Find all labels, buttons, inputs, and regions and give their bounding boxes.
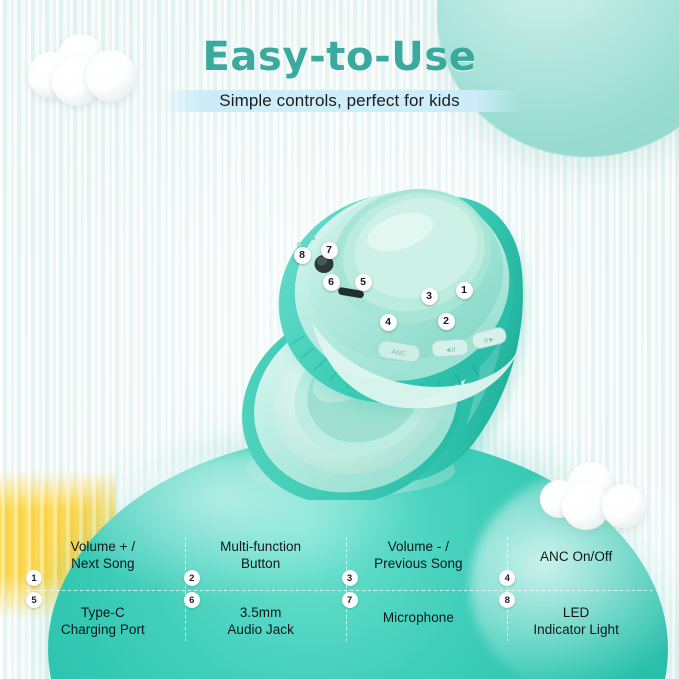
microphone-hole — [311, 236, 316, 240]
legend-label-line1: Microphone — [348, 610, 490, 627]
legend-label-line2: Audio Jack — [190, 622, 332, 639]
legend-label-line2: Indicator Light — [505, 622, 647, 639]
legend-label-line2: Previous Song — [348, 556, 490, 573]
legend-cell-5: 5 Type-C Charging Port — [24, 589, 182, 645]
legend-label: LED Indicator Light — [497, 605, 655, 638]
page-subtitle: Simple controls, perfect for kids — [219, 91, 459, 111]
product-callout-5: 5 — [355, 274, 372, 291]
legend-cell-7: 7 Microphone — [340, 589, 498, 645]
cloud-puff — [602, 484, 646, 528]
legend-label-line1: Multi-function — [190, 539, 332, 556]
legend-badge: 4 — [499, 570, 515, 586]
legend-cell-8: 8 LED Indicator Light — [497, 589, 655, 645]
legend-cell-6: 6 3.5mm Audio Jack — [182, 589, 340, 645]
product-callout-7: 7 — [321, 242, 338, 259]
legend-label-line1: Volume + / — [32, 539, 174, 556]
legend-cell-3: 3 Volume - / Previous Song — [340, 533, 498, 589]
legend-badge: 2 — [184, 570, 200, 586]
legend-label: Volume + / Next Song — [24, 539, 182, 572]
page-title: Easy-to-Use — [0, 34, 679, 80]
legend-cell-2: 2 Multi-function Button — [182, 533, 340, 589]
legend-label: Multi-function Button — [182, 539, 340, 572]
legend-label: Type-C Charging Port — [24, 605, 182, 638]
legend-label: 3.5mm Audio Jack — [182, 605, 340, 638]
legend-label-line2: Next Song — [32, 556, 174, 573]
legend-label-line1: Type-C — [32, 605, 174, 622]
legend-badge: 3 — [342, 570, 358, 586]
product-callout-1: 1 — [456, 282, 473, 299]
legend-label-line1: 3.5mm — [190, 605, 332, 622]
product-callout-2: 2 — [438, 313, 455, 330]
legend-label-line2: Charging Port — [32, 622, 174, 639]
legend-label: ANC On/Off — [497, 549, 655, 566]
legend-label-line1: LED — [505, 605, 647, 622]
legend-grid: 1 Volume + / Next Song 2 Multi-function … — [24, 533, 655, 645]
product-callout-3: 3 — [421, 288, 438, 305]
legend-label-line1: ANC On/Off — [505, 549, 647, 566]
legend-label: Volume - / Previous Song — [340, 539, 498, 572]
led-indicator — [297, 242, 301, 246]
legend-cell-1: 1 Volume + / Next Song — [24, 533, 182, 589]
infographic-canvas: Easy-to-Use Simple controls, perfect for… — [0, 0, 679, 679]
legend-label-line1: Volume - / — [348, 539, 490, 556]
legend-panel: 1 Volume + / Next Song 2 Multi-function … — [24, 533, 655, 645]
legend-badge: 1 — [26, 570, 42, 586]
legend-label-line2: Button — [190, 556, 332, 573]
legend-label: Microphone — [340, 610, 498, 627]
product-callout-4: 4 — [380, 314, 397, 331]
product-callout-8: 8 — [294, 247, 311, 264]
product-callout-6: 6 — [323, 274, 340, 291]
legend-badge: 7 — [342, 592, 358, 608]
legend-cell-4: 4 ANC On/Off — [497, 533, 655, 589]
subtitle-container: Simple controls, perfect for kids — [0, 88, 679, 114]
